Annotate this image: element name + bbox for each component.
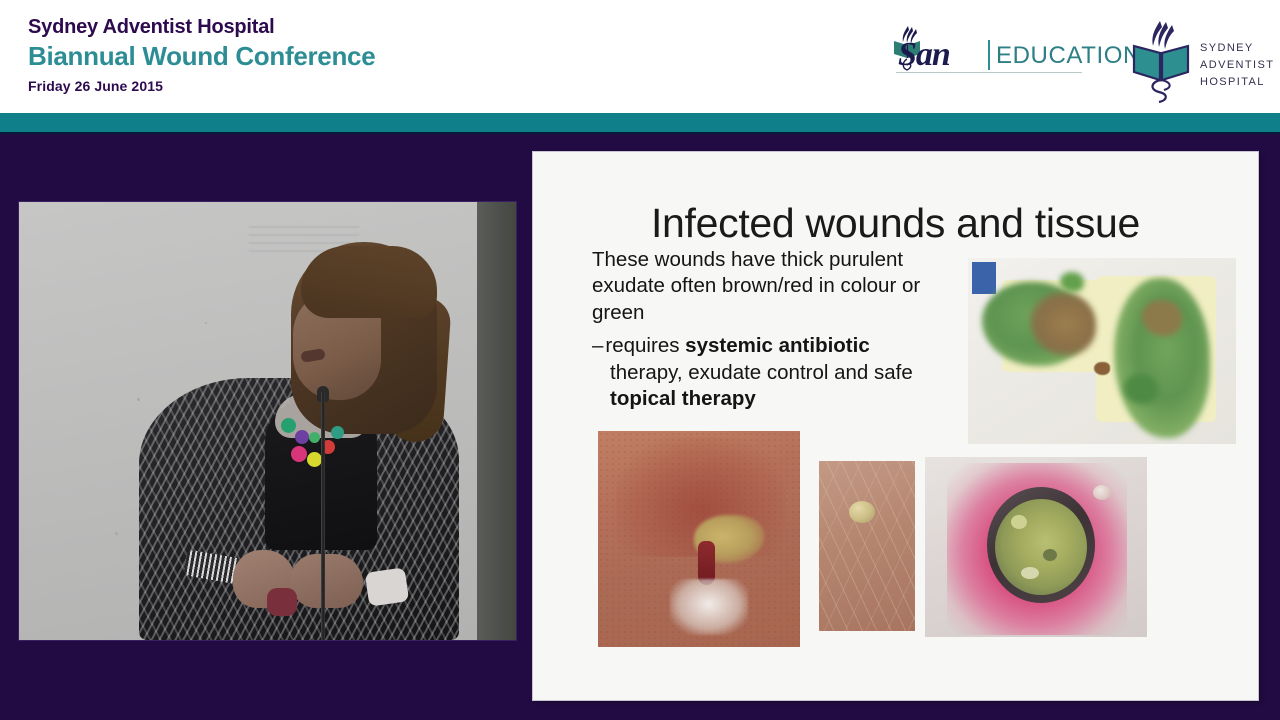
- conference-name: Biannual Wound Conference: [28, 41, 375, 72]
- slide-image-pustule-on-hairy-skin: [819, 461, 915, 631]
- green-exudate-blob: [1124, 374, 1158, 404]
- slide-paragraph-1: These wounds have thick purulent exudate…: [592, 247, 922, 326]
- hospital-logo-line-1: SYDNEY: [1200, 40, 1274, 57]
- speaker-video-feed[interactable]: [19, 202, 516, 640]
- paragraph-2-lead: requires: [605, 334, 685, 357]
- brown-exudate-spot: [1094, 362, 1110, 375]
- presentation-recording-frame: Sydney Adventist Hospital Biannual Wound…: [0, 0, 1280, 720]
- wound-green-slough: [995, 499, 1087, 595]
- wall-speck: [115, 532, 118, 535]
- san-wordmark: San: [898, 36, 950, 74]
- hospital-logo-line-3: HOSPITAL: [1200, 74, 1274, 91]
- sydney-adventist-hospital-logo: SYDNEY ADVENTIST HOSPITAL: [1126, 18, 1276, 106]
- conference-header-banner: Sydney Adventist Hospital Biannual Wound…: [0, 0, 1280, 113]
- header-title-block: Sydney Adventist Hospital Biannual Wound…: [28, 16, 375, 94]
- wall-speck: [205, 322, 207, 324]
- slide-image-dressings-with-green-exudate: [968, 258, 1236, 444]
- conference-date: Friday 26 June 2015: [28, 78, 375, 94]
- san-logo-divider: [988, 40, 990, 70]
- necklace-bead: [291, 446, 307, 462]
- bullet-dash: –: [592, 334, 605, 357]
- skin-hairs: [819, 461, 915, 631]
- slough-speck: [1021, 567, 1039, 579]
- organisation-name: Sydney Adventist Hospital: [28, 16, 375, 39]
- necklace-bead: [309, 432, 320, 443]
- hospital-logo-line-2: ADVENTIST: [1200, 57, 1274, 74]
- green-exudate-blob: [1060, 272, 1084, 292]
- slide-body-text: These wounds have thick purulent exudate…: [592, 247, 922, 413]
- hospital-logo-text: SYDNEY ADVENTIST HOSPITAL: [1200, 40, 1274, 91]
- brown-exudate-blob: [1142, 300, 1182, 336]
- microphone-stand: [321, 392, 325, 640]
- presenter-cuff: [365, 567, 409, 606]
- slide-paragraph-2: –requires systemic antibiotic therapy, e…: [592, 333, 922, 412]
- white-crystalline-deposit: [670, 579, 748, 635]
- san-logo-underline: [896, 72, 1082, 73]
- satellite-lesion: [1093, 485, 1111, 500]
- san-education-label: EDUCATION: [996, 42, 1141, 70]
- slough-speck: [1043, 549, 1057, 561]
- slide-panel[interactable]: Infected wounds and tissue These wounds …: [533, 152, 1258, 700]
- slough-speck: [1011, 515, 1027, 529]
- presenter-hand-right: [291, 554, 363, 608]
- san-education-logo: San EDUCATION: [888, 24, 1084, 76]
- necklace-bead: [281, 418, 296, 433]
- slide-image-round-infected-wound-with-green-slough: [925, 457, 1147, 637]
- teal-divider-bar: [0, 113, 1280, 134]
- necklace-bead: [295, 430, 309, 444]
- paragraph-2-middle: therapy, exudate control and safe: [610, 361, 913, 384]
- flame-book-serpent-mark-icon: [1126, 18, 1198, 104]
- paragraph-2-bold-1: systemic antibiotic: [685, 334, 870, 357]
- necklace-bead: [307, 452, 322, 467]
- slide-image-inflamed-skin-with-purulent-discharge: [598, 431, 800, 647]
- slide-title: Infected wounds and tissue: [533, 200, 1258, 247]
- dressing-blue-tab: [972, 262, 996, 294]
- presenter-clicker: [267, 588, 297, 616]
- pustule: [849, 501, 875, 523]
- wall-speck: [137, 398, 140, 401]
- necklace-bead: [331, 426, 344, 439]
- presenter-fringe: [301, 246, 437, 318]
- paragraph-2-bold-2: topical therapy: [610, 387, 756, 410]
- wall-edge-shadow: [477, 202, 516, 640]
